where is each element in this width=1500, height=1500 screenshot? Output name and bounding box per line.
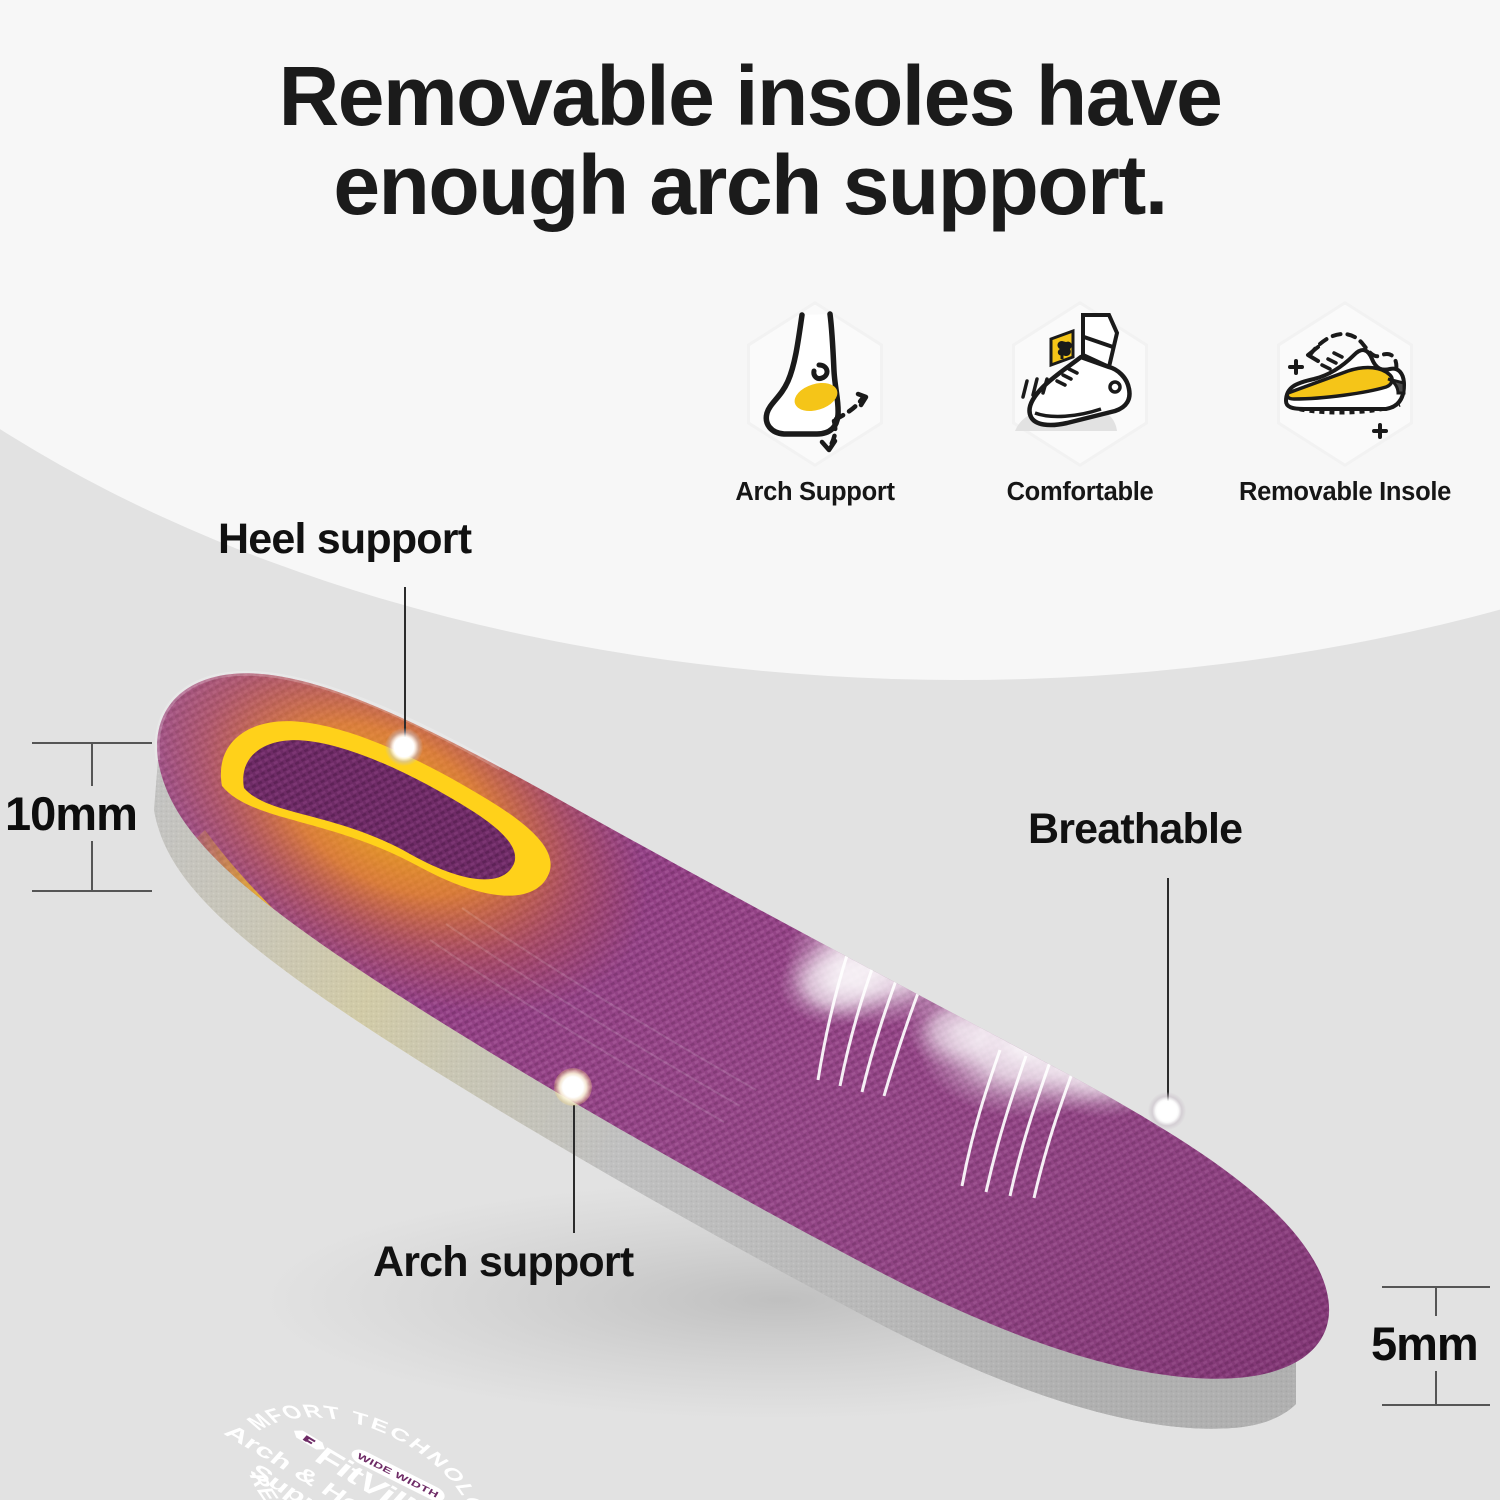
feature-badge-list: Arch Support Comforta	[690, 296, 1470, 546]
dimension-label: 5mm	[1368, 1316, 1481, 1371]
dimension-toe-thickness: 5mm	[1382, 1286, 1490, 1406]
headline-line-2: enough arch support.	[0, 141, 1500, 230]
callout-label-heel-support: Heel support	[218, 515, 471, 564]
hex-badge-comfortable	[1000, 296, 1160, 472]
feature-removable-insole: Removable Insole	[1220, 296, 1470, 507]
feature-comfortable: Comfortable	[955, 296, 1205, 507]
leader-line-breathable	[1167, 878, 1169, 1110]
sneaker-cloud-icon	[1005, 309, 1155, 459]
dimension-label: 10mm	[2, 786, 140, 841]
sneaker-removable-insole-icon	[1270, 309, 1420, 459]
feature-arch-support: Arch Support	[690, 296, 940, 507]
leader-line-heel-support	[404, 587, 406, 747]
feature-label: Comfortable	[1007, 478, 1154, 507]
headline-line-1: Removable insoles have	[0, 52, 1500, 141]
dimension-tick-bottom	[32, 890, 152, 892]
dimension-tick-bottom	[1382, 1404, 1490, 1406]
callout-label-arch-support: Arch support	[373, 1238, 633, 1287]
hotspot-dot-breathable[interactable]	[1148, 1092, 1186, 1130]
hotspot-dot-arch-support[interactable]	[554, 1068, 592, 1106]
hex-badge-arch-support	[735, 296, 895, 472]
dimension-heel-thickness: 10mm	[32, 742, 152, 892]
leader-line-arch-support	[573, 1105, 575, 1233]
feature-label: Removable Insole	[1239, 478, 1451, 507]
foot-arch-icon	[740, 309, 890, 459]
hex-badge-removable-insole	[1265, 296, 1425, 472]
feature-label: Arch Support	[735, 478, 894, 507]
hotspot-dot-heel-support[interactable]	[385, 728, 423, 766]
callout-label-breathable: Breathable	[1028, 805, 1242, 854]
page-title: Removable insoles have enough arch suppo…	[0, 52, 1500, 230]
product-infographic: Removable insoles have enough arch suppo…	[0, 0, 1500, 1500]
